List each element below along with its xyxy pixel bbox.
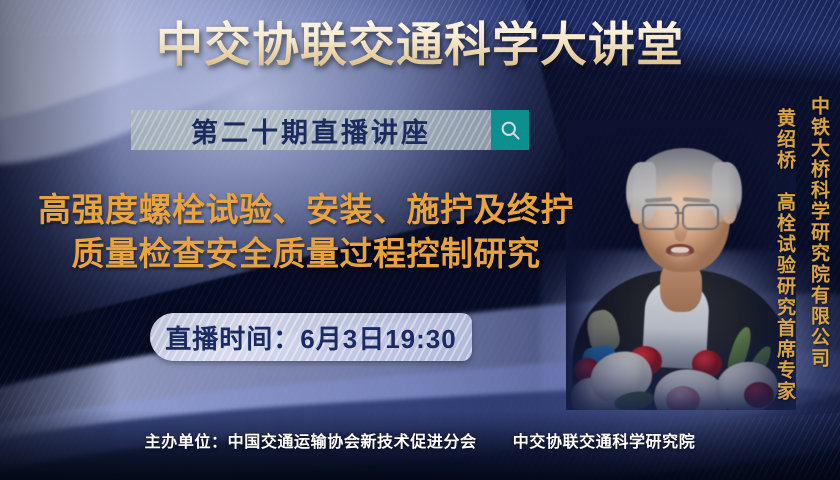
search-icon	[499, 119, 522, 142]
broadcast-time-badge: 直播时间：6月3日19:30	[150, 313, 472, 361]
headline-line-2: 质量检查安全质量过程控制研究	[16, 232, 596, 276]
page-title: 中交协联交通科学大讲堂	[0, 20, 840, 69]
lecture-headline: 高强度螺栓试验、安装、施拧及终拧 质量检查安全质量过程控制研究	[16, 188, 596, 275]
organizer-secondary: 中交协联交通科学研究院	[513, 434, 696, 451]
organizer-footer: 主办单位：中国交通运输协会新技术促进分会 中交协联交通科学研究院	[0, 428, 840, 452]
webinar-poster: 中交协联交通科学大讲堂 第二十期直播讲座 高强度螺栓试验、安装、施拧及终拧 质量…	[0, 0, 840, 480]
headline-line-1: 高强度螺栓试验、安装、施拧及终拧	[38, 191, 574, 228]
organizer-primary: 主办单位：中国交通运输协会新技术促进分会	[145, 434, 477, 451]
speaker-organization: 中铁大桥科学研究院有限公司	[805, 96, 832, 369]
broadcast-time-label: 直播时间：6月3日19:30	[165, 319, 456, 356]
search-button[interactable]	[491, 110, 529, 150]
poster-content: 中交协联交通科学大讲堂 第二十期直播讲座 高强度螺栓试验、安装、施拧及终拧 质量…	[0, 0, 840, 480]
speaker-name-and-role: 黄绍桥 高栓试验研究首席专家	[771, 108, 798, 402]
episode-banner: 第二十期直播讲座	[131, 110, 491, 150]
episode-banner-label: 第二十期直播讲座	[191, 111, 431, 150]
